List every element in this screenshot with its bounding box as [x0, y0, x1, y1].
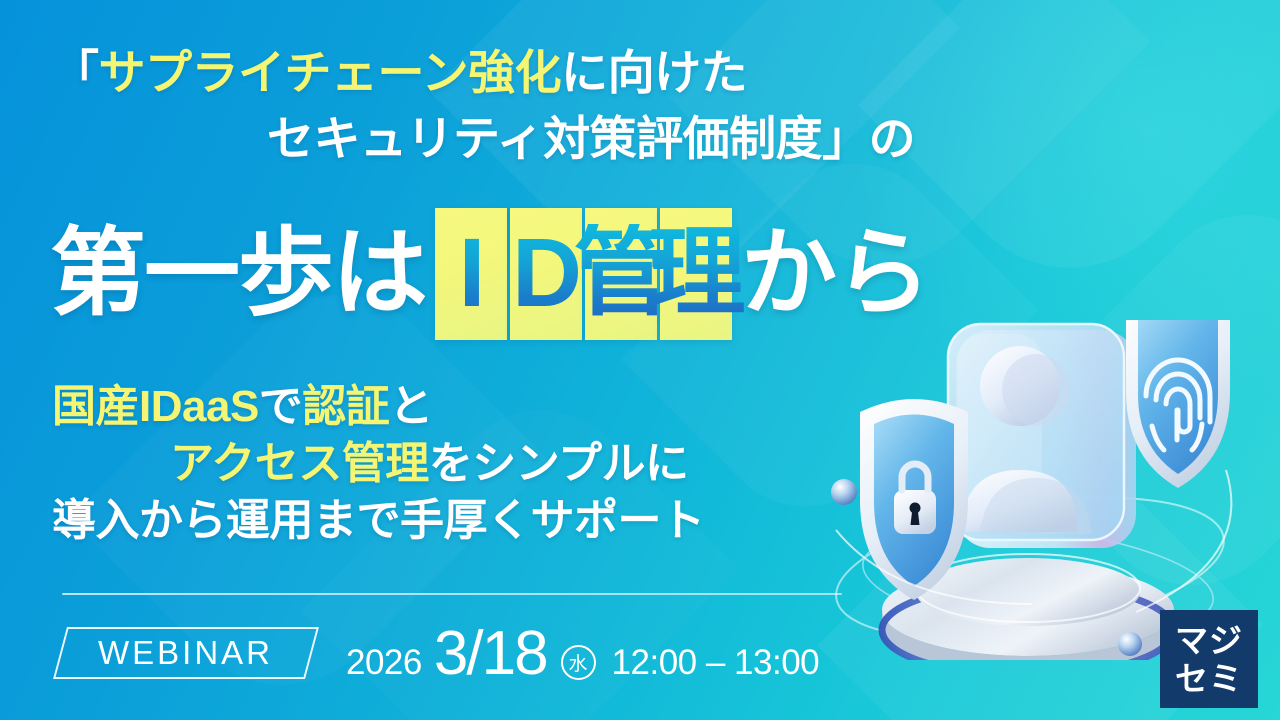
event-month-day: 3/18: [434, 618, 547, 689]
subcopy-mid-1: で: [259, 382, 303, 431]
webinar-banner: 「サプライチェーン強化に向けた セキュリティ対策評価制度」の 第一歩は I D …: [0, 0, 1280, 720]
hero-prefix: 第一歩は: [50, 214, 426, 334]
shield-fingerprint: [1126, 320, 1230, 488]
kicker-heading: 「サプライチェーン強化に向けた セキュリティ対策評価制度」の: [52, 40, 1052, 172]
webinar-badge-label: WEBINAR: [98, 634, 273, 672]
divider-rule: [62, 593, 842, 595]
hero-box-2-label: D: [512, 224, 580, 321]
kicker-highlight-1: サプライチェーン強化: [99, 46, 562, 99]
hero-box-4-label: 理: [649, 224, 744, 321]
brand-logo-line-1: マジ: [1175, 624, 1243, 657]
hero-box-2: D: [510, 208, 582, 340]
sub-copy: 国産IDaaSで認証と アクセス管理をシンプルに 導入から運用まで手厚くサポート: [52, 378, 882, 549]
subcopy-highlight-1: 国産IDaaS: [52, 382, 259, 431]
subcopy-line-3: 導入から運用まで手厚くサポート: [52, 492, 882, 549]
kicker-rest-2: 」の: [822, 112, 915, 165]
kicker-rest-1: に向けた: [561, 46, 747, 99]
kicker-highlight-2: セキュリティ対策評価制度: [267, 112, 822, 165]
hero-suffix: から: [741, 214, 929, 334]
event-time: 12:00 – 13:00: [612, 643, 820, 683]
event-date: 2026 3/18 水 12:00 – 13:00: [346, 618, 819, 689]
subcopy-rest-2: をシンプルに: [429, 439, 689, 488]
webinar-badge: WEBINAR: [53, 627, 319, 679]
subcopy-rest-1: と: [389, 382, 433, 431]
hero-box-3: 管: [585, 208, 657, 340]
event-year: 2026: [346, 643, 422, 683]
hero-highlight-boxes: I D 管 理: [435, 208, 732, 340]
orbit-bead-left: [831, 479, 857, 505]
hero-box-1-label: I: [459, 224, 484, 321]
event-footer: WEBINAR 2026 3/18 水 12:00 – 13:00: [60, 622, 819, 684]
subcopy-line-2: アクセス管理をシンプルに: [52, 435, 882, 492]
kicker-open-bracket: 「: [52, 46, 99, 99]
subcopy-highlight-1b: 認証: [302, 382, 389, 431]
kicker-line-2: セキュリティ対策評価制度」の: [52, 106, 1052, 172]
brand-logo-line-2: セミ: [1175, 662, 1243, 695]
subcopy-line-1: 国産IDaaSで認証と: [52, 378, 882, 435]
kicker-line-1: 「サプライチェーン強化に向けた: [52, 40, 1052, 106]
hero-box-4: 理: [660, 208, 732, 340]
event-day-of-week: 水: [561, 645, 596, 680]
security-illustration: [830, 320, 1280, 660]
hero-box-1: I: [435, 208, 507, 340]
hero-headline: 第一歩は I D 管 理 から: [50, 206, 929, 342]
brand-logo: マジ セミ: [1160, 610, 1258, 708]
subcopy-highlight-2: アクセス管理: [170, 439, 429, 488]
orbit-bead-right: [1118, 632, 1142, 656]
